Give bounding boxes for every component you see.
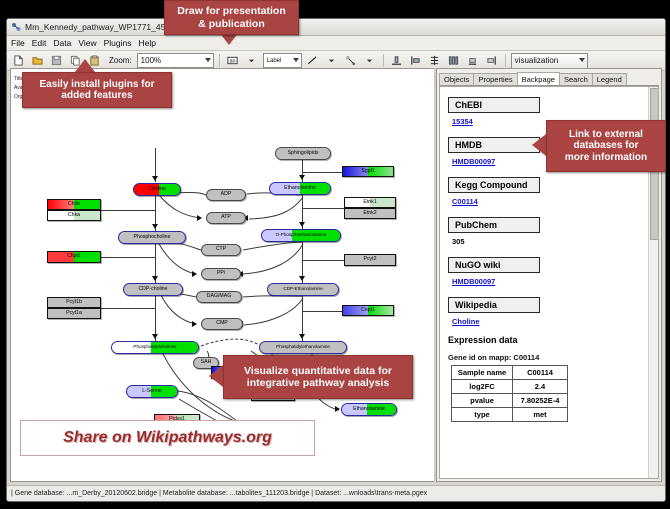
zoom-dropdown[interactable]: 100% — [137, 53, 214, 68]
edge-sgpl1-to-reaction — [302, 172, 342, 173]
share-text: Share on Wikipathways.org — [63, 429, 272, 447]
svg-text:an: an — [230, 58, 236, 64]
zoom-label: Zoom: — [109, 56, 132, 65]
node-label: Pcyt2 — [364, 257, 377, 262]
metabolite-node-phosphatidylcholines[interactable]: Phosphatidylcholines — [111, 341, 199, 354]
callout-tail-up — [75, 59, 95, 72]
menu-item-file[interactable]: File — [11, 38, 25, 48]
gene-id-line: Gene id on mapp: C00114 — [448, 353, 649, 362]
metabolite-node-adp[interactable]: ADP — [206, 189, 246, 201]
datanode-dropdown-icon[interactable] — [244, 53, 260, 69]
table-row: Sample name C00114 — [452, 366, 568, 380]
db-group-nugo-wiki: NuGO wiki HMDB00097 — [448, 255, 649, 286]
db-group-kegg-compound: Kegg Compound C00114 — [448, 175, 649, 206]
callout-draw-for-presentation: Draw for presentation & publication — [164, 0, 299, 35]
menu-item-plugins[interactable]: Plugins — [104, 38, 132, 48]
callout-visualize-quantitative-data: Visualize quantitative data for integrat… — [223, 355, 413, 399]
callout-tail-left — [532, 134, 546, 156]
label-dropdown-value: Label — [267, 58, 282, 64]
status-bar: | Gene database: ...m_Derby_20120602.bri… — [7, 485, 665, 501]
node-label: Chka — [68, 213, 80, 218]
metabolite-node-dag-mag[interactable]: DAG/MAG — [196, 291, 242, 303]
node-label: CTP — [216, 247, 226, 252]
menu-item-data[interactable]: Data — [53, 38, 71, 48]
chevron-down-icon — [579, 58, 585, 62]
arrow-icon — [299, 276, 305, 281]
metabolite-node-cdp-choline[interactable]: CDP-choline — [123, 283, 183, 296]
table-row: log2FC 2.4 — [452, 380, 568, 394]
node-label: CDP-Ethanolamine — [283, 287, 322, 292]
label-dropdown[interactable]: Label — [263, 53, 302, 68]
side-panel-tabs[interactable]: Objects Properties Backpage Search Legen… — [439, 71, 659, 86]
stack-icon[interactable] — [427, 53, 443, 69]
menu-item-view[interactable]: View — [78, 38, 96, 48]
db-link-kegg-compound[interactable]: C00114 — [452, 197, 649, 206]
metabolite-node-ctp[interactable]: CTP — [201, 244, 241, 256]
callout-text: Easily install plugins for added feature… — [39, 79, 154, 102]
node-label: O-Phosphoethanolamine — [276, 233, 327, 238]
visualization-value: visualization — [515, 56, 559, 65]
table-cell-value: C00114 — [513, 366, 568, 380]
node-label: DAG/MAG — [207, 294, 232, 299]
callout-easily-install-plugins: Easily install plugins for added feature… — [22, 72, 172, 108]
expression-table: Sample name C00114 log2FC 2.4 pvalue 7.8… — [451, 365, 568, 422]
metabolite-node-o-phosphoethanolamine[interactable]: O-Phosphoethanolamine — [261, 229, 341, 242]
new-file-icon[interactable] — [10, 53, 26, 69]
node-label: Pcyt1a — [66, 311, 82, 316]
arrow-icon — [197, 215, 202, 221]
distribute-icon[interactable] — [446, 53, 462, 69]
gene-node-pcyt1b[interactable]: Pcyt1b — [47, 297, 101, 308]
db-header-nugo-wiki: NuGO wiki — [448, 257, 540, 273]
node-label: ADP — [221, 192, 232, 197]
visualization-dropdown[interactable]: visualization — [511, 53, 588, 69]
node-label: Ethanolamine — [353, 407, 385, 412]
node-label: Sgpl1 — [361, 169, 374, 174]
table-cell-value: 2.4 — [513, 380, 568, 394]
node-label: Etnk2 — [363, 211, 376, 216]
anchor-dropdown-icon[interactable] — [362, 53, 378, 69]
expression-data-heading: Expression data — [448, 335, 649, 345]
align-bottom-icon[interactable] — [465, 53, 481, 69]
db-link-nugo-wiki[interactable]: HMDB00097 — [452, 277, 649, 286]
metabolite-node-ppi[interactable]: PPi — [201, 268, 241, 280]
node-label: CDP-choline — [138, 287, 167, 292]
metabolite-node-l-serine-left[interactable]: L-Serine — [126, 385, 178, 398]
screenshot-root: Mm_Kennedy_pathway_WP1771_45176.gpml Fil… — [0, 0, 670, 509]
node-label: Pcyt1b — [66, 300, 82, 305]
gene-node-etnk1[interactable]: Etnk1 — [344, 197, 396, 208]
menu-item-help[interactable]: Help — [139, 38, 156, 48]
edge-pcyt2-to-reaction — [302, 260, 344, 261]
table-cell-key: type — [452, 408, 513, 422]
arrow-icon — [299, 334, 305, 339]
callout-share-wikipathways: Share on Wikipathways.org — [20, 420, 315, 456]
menu-item-edit[interactable]: Edit — [32, 38, 47, 48]
metabolite-node-cdp-ethanolamine[interactable]: CDP-Ethanolamine — [267, 283, 339, 296]
db-value-pubchem: 305 — [452, 237, 649, 246]
metabolite-node-choline-top[interactable]: Choline — [133, 183, 181, 196]
gene-node-pcyt2[interactable]: Pcyt2 — [344, 254, 396, 266]
tab-legend[interactable]: Legend — [592, 73, 627, 85]
metabolite-node-ethanolamine[interactable]: Ethanolamine — [269, 182, 331, 195]
table-cell-value: 7.80252E-4 — [513, 394, 568, 408]
callout-text: Link to external databases for more info… — [565, 129, 647, 164]
table-row: type met — [452, 408, 568, 422]
toolbar-separator — [383, 54, 384, 67]
node-label: Choline — [148, 187, 166, 192]
line-dropdown-icon[interactable] — [324, 53, 340, 69]
arrow-icon — [192, 271, 197, 277]
metabolite-node-cmp[interactable]: CMP — [201, 318, 243, 330]
align-left-icon[interactable] — [408, 53, 424, 69]
toolbar-separator — [219, 54, 220, 67]
table-cell-key: log2FC — [452, 380, 513, 394]
metabolite-node-sphingolipids[interactable]: Sphingolipids — [275, 147, 331, 160]
arrow-icon — [192, 321, 197, 327]
edge-etnk-to-reaction — [302, 208, 344, 209]
table-cell-key: pvalue — [452, 394, 513, 408]
tab-backpage[interactable]: Backpage — [517, 72, 560, 85]
db-header-wikipedia: Wikipedia — [448, 297, 540, 313]
db-link-wikipedia[interactable]: Choline — [452, 317, 649, 326]
align-top-icon[interactable] — [389, 53, 405, 69]
status-text: | Gene database: ...m_Derby_20120602.bri… — [7, 490, 427, 497]
datanode-icon[interactable]: an — [225, 53, 241, 69]
chevron-down-icon — [205, 58, 211, 62]
gene-node-pcyt1a[interactable]: Pcyt1a — [47, 308, 101, 319]
node-label: CMP — [216, 321, 228, 326]
node-label: Ethanolamine — [284, 186, 316, 191]
db-header-chebi: ChEBI — [448, 97, 540, 113]
node-label: ATP — [221, 215, 231, 220]
gene-node-chkb[interactable]: Chkb — [47, 199, 101, 210]
open-folder-icon[interactable] — [29, 53, 45, 69]
save-icon[interactable] — [48, 53, 64, 69]
tab-objects[interactable]: Objects — [439, 73, 474, 85]
table-cell-key: Sample name — [452, 366, 513, 380]
arrow-icon — [335, 406, 340, 412]
node-label: Sphingolipids — [288, 151, 319, 156]
node-label: Cept1 — [361, 308, 375, 313]
callout-text: Visualize quantitative data for integrat… — [244, 365, 392, 389]
callout-tail-left — [209, 365, 223, 387]
callout-text: Draw for presentation & publication — [177, 5, 286, 29]
align-right-icon[interactable] — [484, 53, 500, 69]
gene-node-sgpl1[interactable]: Sgpl1 — [342, 166, 394, 177]
gene-node-cept1[interactable]: Cept1 — [342, 305, 394, 316]
arrow-icon — [299, 222, 305, 227]
menu-bar[interactable]: File Edit Data View Plugins Help — [7, 36, 665, 51]
line-icon[interactable] — [305, 53, 321, 69]
toolbar-separator — [505, 54, 506, 67]
node-label: Phosphatidylcholines — [133, 345, 176, 350]
gene-node-etnk2[interactable]: Etnk2 — [344, 208, 396, 219]
metabolite-node-phosphatidylethanolamine[interactable]: Phosphatidylethanolamine — [259, 341, 347, 354]
arrow-icon — [299, 175, 305, 180]
metabolite-node-phosphocholine[interactable]: Phosphocholine — [118, 231, 186, 244]
db-group-pubchem: PubChem 305 — [448, 215, 649, 246]
node-label: L-Serine — [142, 389, 162, 394]
callout-link-external-databases: Link to external databases for more info… — [546, 120, 666, 172]
node-label: PPi — [217, 271, 225, 276]
anchor-icon[interactable] — [343, 53, 359, 69]
table-row: pvalue 7.80252E-4 — [452, 394, 568, 408]
table-cell-value: met — [513, 408, 568, 422]
node-label: Chkb — [68, 202, 80, 207]
db-header-pubchem: PubChem — [448, 217, 540, 233]
title-bar: Mm_Kennedy_pathway_WP1771_45176.gpml — [7, 19, 665, 36]
db-header-kegg-compound: Kegg Compound — [448, 177, 540, 193]
db-group-wikipedia: Wikipedia Choline — [448, 295, 649, 326]
node-label: Phosphocholine — [134, 235, 171, 240]
gene-node-chka[interactable]: Chka — [47, 210, 101, 221]
gene-node-chpt1[interactable]: Chpt1 — [47, 251, 101, 263]
node-label: Chpt1 — [67, 254, 81, 259]
node-label: Phosphatidylethanolamine — [276, 345, 330, 350]
node-label: Etnk1 — [363, 200, 376, 205]
tab-search[interactable]: Search — [559, 73, 593, 85]
metabolite-node-ethanolamine-right[interactable]: Ethanolamine — [341, 403, 397, 416]
chevron-down-icon — [293, 58, 299, 62]
db-header-hmdb: HMDB — [448, 137, 540, 153]
edge-cept1-to-reaction — [302, 311, 342, 312]
metabolite-node-atp[interactable]: ATP — [206, 212, 246, 224]
app-icon — [11, 22, 21, 32]
tab-properties[interactable]: Properties — [473, 73, 517, 85]
zoom-value: 100% — [141, 56, 161, 65]
